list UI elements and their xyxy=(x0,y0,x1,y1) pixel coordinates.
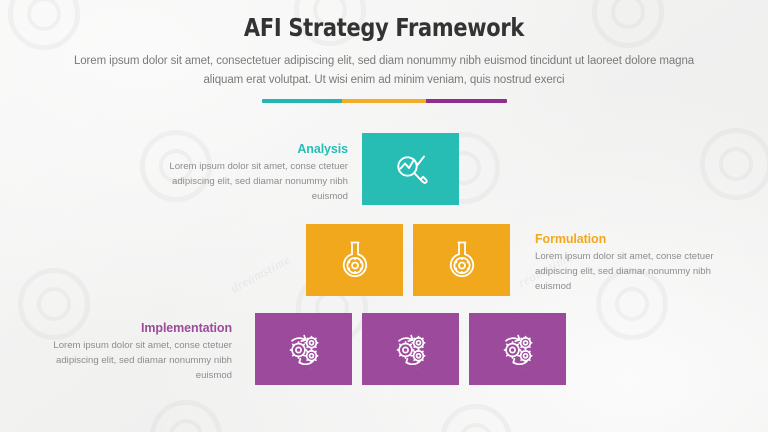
accent-divider xyxy=(262,99,507,103)
watermark-ring xyxy=(150,400,222,432)
page-subtitle: Lorem ipsum dolor sit amet, consectetuer… xyxy=(54,52,714,90)
gears-cycle-icon xyxy=(496,329,540,369)
page-title: AFI Strategy Framework xyxy=(27,14,741,43)
slide-header: AFI Strategy Framework Lorem ipsum dolor… xyxy=(0,14,768,103)
analysis-title: Analysis xyxy=(152,142,348,156)
implementation-description: Lorem ipsum dolor sit amet, conse ctetue… xyxy=(36,339,232,384)
section-analysis: Analysis Lorem ipsum dolor sit amet, con… xyxy=(0,128,768,208)
formulation-description: Lorem ipsum dolor sit amet, conse ctetue… xyxy=(535,250,731,295)
watermark-ring xyxy=(440,404,512,432)
divider-segment-analysis xyxy=(262,99,342,103)
section-implementation: Implementation Lorem ipsum dolor sit ame… xyxy=(0,309,768,391)
formulation-title: Formulation xyxy=(535,232,731,246)
gears-cycle-icon xyxy=(282,329,326,369)
analysis-text-block: Analysis Lorem ipsum dolor sit amet, con… xyxy=(152,142,348,205)
analysis-icon-boxes xyxy=(362,133,459,205)
implementation-icon-box[interactable] xyxy=(255,313,352,385)
formulation-text-block: Formulation Lorem ipsum dolor sit amet, … xyxy=(535,232,731,295)
implementation-icon-box[interactable] xyxy=(362,313,459,385)
flask-molecule-icon xyxy=(335,238,375,282)
formulation-icon-box[interactable] xyxy=(413,224,510,296)
implementation-text-block: Implementation Lorem ipsum dolor sit ame… xyxy=(36,321,232,384)
analysis-icon-box[interactable] xyxy=(362,133,459,205)
gears-cycle-icon xyxy=(389,329,433,369)
flask-molecule-icon xyxy=(442,238,482,282)
implementation-title: Implementation xyxy=(36,321,232,335)
infographic-slide: dreamstime reamstime AFI Strategy Framew… xyxy=(0,0,768,432)
divider-segment-formulation xyxy=(342,99,426,103)
divider-segment-implementation xyxy=(426,99,506,103)
formulation-icon-box[interactable] xyxy=(306,224,403,296)
section-formulation: Formulation Lorem ipsum dolor sit amet, … xyxy=(0,219,768,303)
analysis-description: Lorem ipsum dolor sit amet, conse ctetue… xyxy=(152,160,348,205)
magnifier-chart-icon xyxy=(391,149,431,189)
formulation-icon-boxes xyxy=(306,224,510,296)
implementation-icon-boxes xyxy=(255,313,566,385)
implementation-icon-box[interactable] xyxy=(469,313,566,385)
